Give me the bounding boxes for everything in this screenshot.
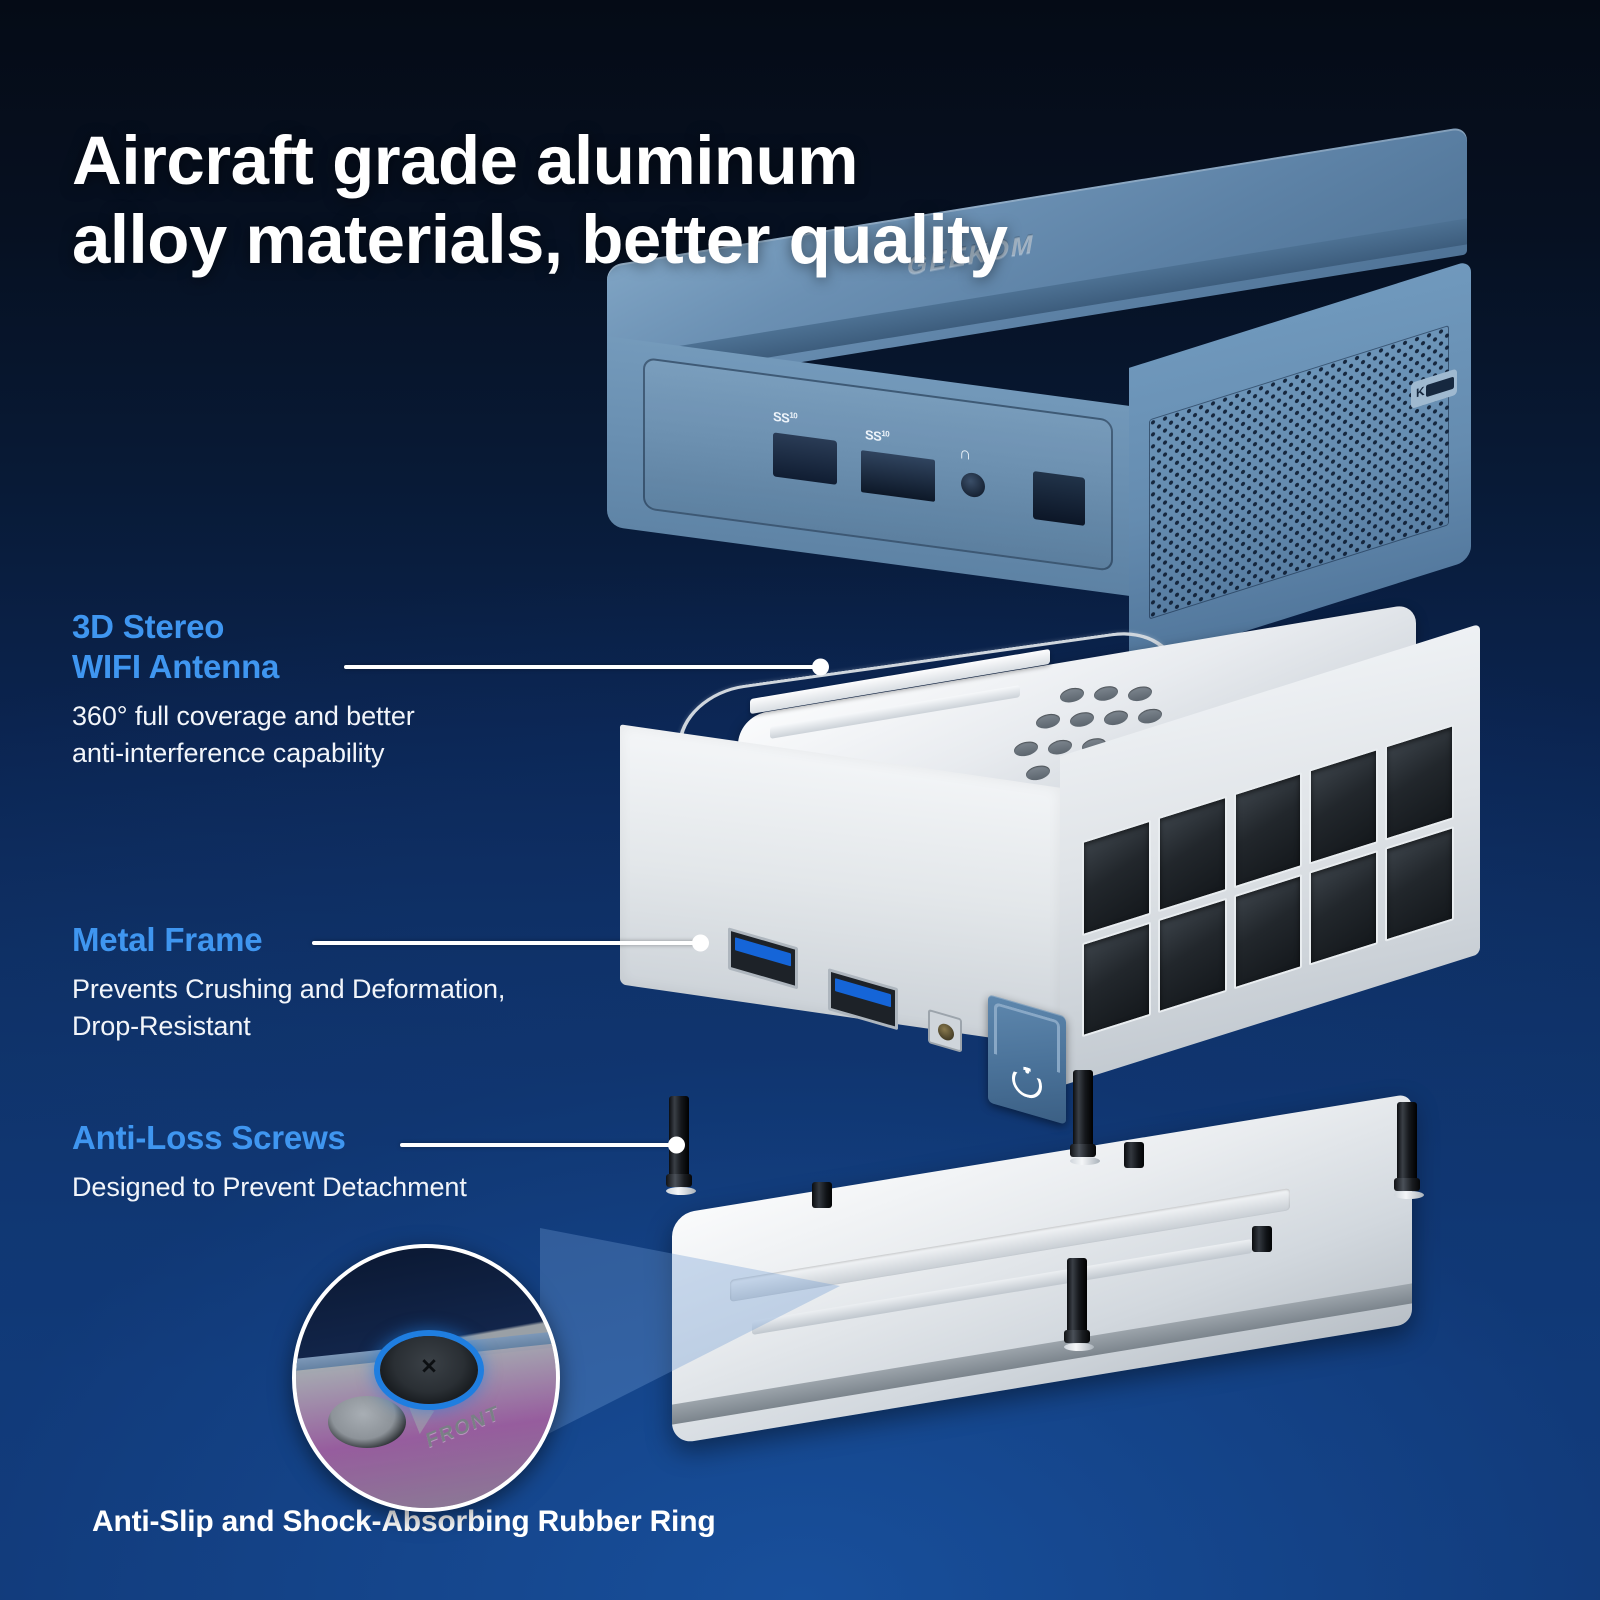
screw-stud bbox=[812, 1182, 832, 1208]
anti-loss-screw bbox=[1064, 1258, 1090, 1351]
screw-stud bbox=[1124, 1142, 1144, 1168]
callout-antenna-title: 3D Stereo WIFI Antenna bbox=[72, 607, 542, 687]
leader-dot bbox=[668, 1137, 685, 1154]
power-icon bbox=[1012, 1063, 1042, 1102]
inset-rubber-foot-secondary bbox=[328, 1396, 406, 1448]
callout-antenna: 3D Stereo WIFI Antenna 360° full coverag… bbox=[72, 607, 542, 771]
callout-anti-loss-screws: Anti-Loss Screws Designed to Prevent Det… bbox=[72, 1118, 632, 1206]
audio-jack-port bbox=[928, 1009, 962, 1053]
usb-c-port-label: SS10 bbox=[773, 408, 797, 427]
bottom-base-plate bbox=[612, 1130, 1512, 1480]
mesh-vent-grille bbox=[1149, 325, 1449, 620]
callout-frame-body: Prevents Crushing and Deformation, Drop-… bbox=[72, 971, 652, 1044]
kensington-slot bbox=[1426, 376, 1454, 397]
usb3-port-2 bbox=[828, 968, 898, 1030]
callout-frame-title: Metal Frame bbox=[72, 920, 652, 960]
usb-a-port-label: SS10 bbox=[865, 427, 889, 446]
component-window-grid bbox=[1082, 724, 1454, 1037]
highlighted-rubber-ring bbox=[380, 1336, 478, 1404]
callout-screws-body: Designed to Prevent Detachment bbox=[72, 1169, 632, 1206]
leader-dot bbox=[812, 659, 829, 676]
chassis-port-row: SS10 SS10 ∩ bbox=[643, 357, 1113, 572]
usb3-port-1 bbox=[728, 927, 798, 989]
power-button-bracket bbox=[994, 1002, 1060, 1073]
screw-stud bbox=[1252, 1226, 1272, 1252]
callout-antenna-body: 360° full coverage and better anti-inter… bbox=[72, 698, 542, 771]
usb-a-port bbox=[861, 450, 935, 502]
chassis-front-face: SS10 SS10 ∩ bbox=[607, 336, 1129, 596]
anti-loss-screw bbox=[1070, 1070, 1096, 1165]
callout-metal-frame: Metal Frame Prevents Crushing and Deform… bbox=[72, 920, 652, 1044]
headphone-jack-port bbox=[961, 471, 985, 498]
metal-frame-assembly bbox=[600, 628, 1500, 1148]
page-title: Aircraft grade aluminum alloy materials,… bbox=[72, 122, 1402, 279]
usb-c-port bbox=[773, 432, 837, 485]
infographic-canvas: Aircraft grade aluminum alloy materials,… bbox=[0, 0, 1600, 1600]
callout-screws-title: Anti-Loss Screws bbox=[72, 1118, 632, 1158]
kensington-lock-label: K bbox=[1416, 384, 1425, 401]
bottom-caption: Anti-Slip and Shock-Absorbing Rubber Rin… bbox=[92, 1505, 812, 1539]
frame-port-row bbox=[676, 892, 1066, 1114]
power-button[interactable] bbox=[988, 994, 1066, 1124]
anti-loss-screw bbox=[1394, 1102, 1420, 1199]
headphone-icon: ∩ bbox=[959, 443, 971, 465]
display-port bbox=[1033, 471, 1085, 526]
leader-dot bbox=[692, 935, 709, 952]
chassis-right-vent-panel: K bbox=[1129, 260, 1471, 668]
rubber-ring-magnifier-inset: FRONT bbox=[292, 1244, 560, 1512]
